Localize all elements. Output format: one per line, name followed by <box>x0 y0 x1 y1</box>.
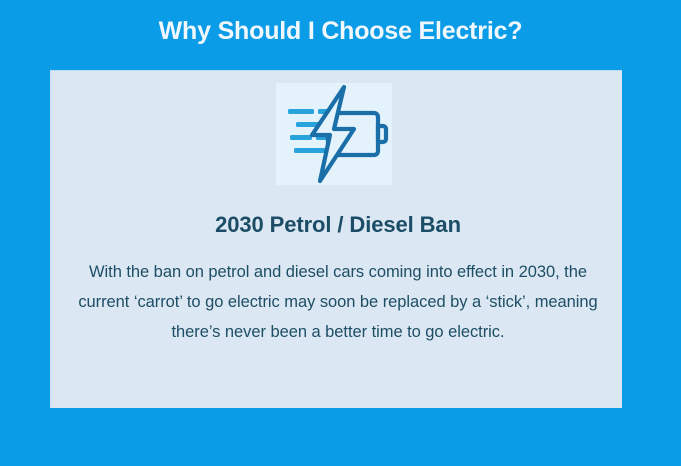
info-card: 2030 Petrol / Diesel Ban With the ban on… <box>50 70 622 408</box>
lightning-bolt-icon <box>312 87 354 181</box>
card-heading: 2030 Petrol / Diesel Ban <box>52 211 624 239</box>
battery-lightning-bolt-icon <box>276 83 392 185</box>
page-title: Why Should I Choose Electric? <box>0 16 681 46</box>
icon-tile <box>276 83 392 185</box>
slide-canvas: Why Should I Choose Electric? <box>0 0 681 466</box>
card-body-text: With the ban on petrol and diesel cars c… <box>70 257 606 347</box>
